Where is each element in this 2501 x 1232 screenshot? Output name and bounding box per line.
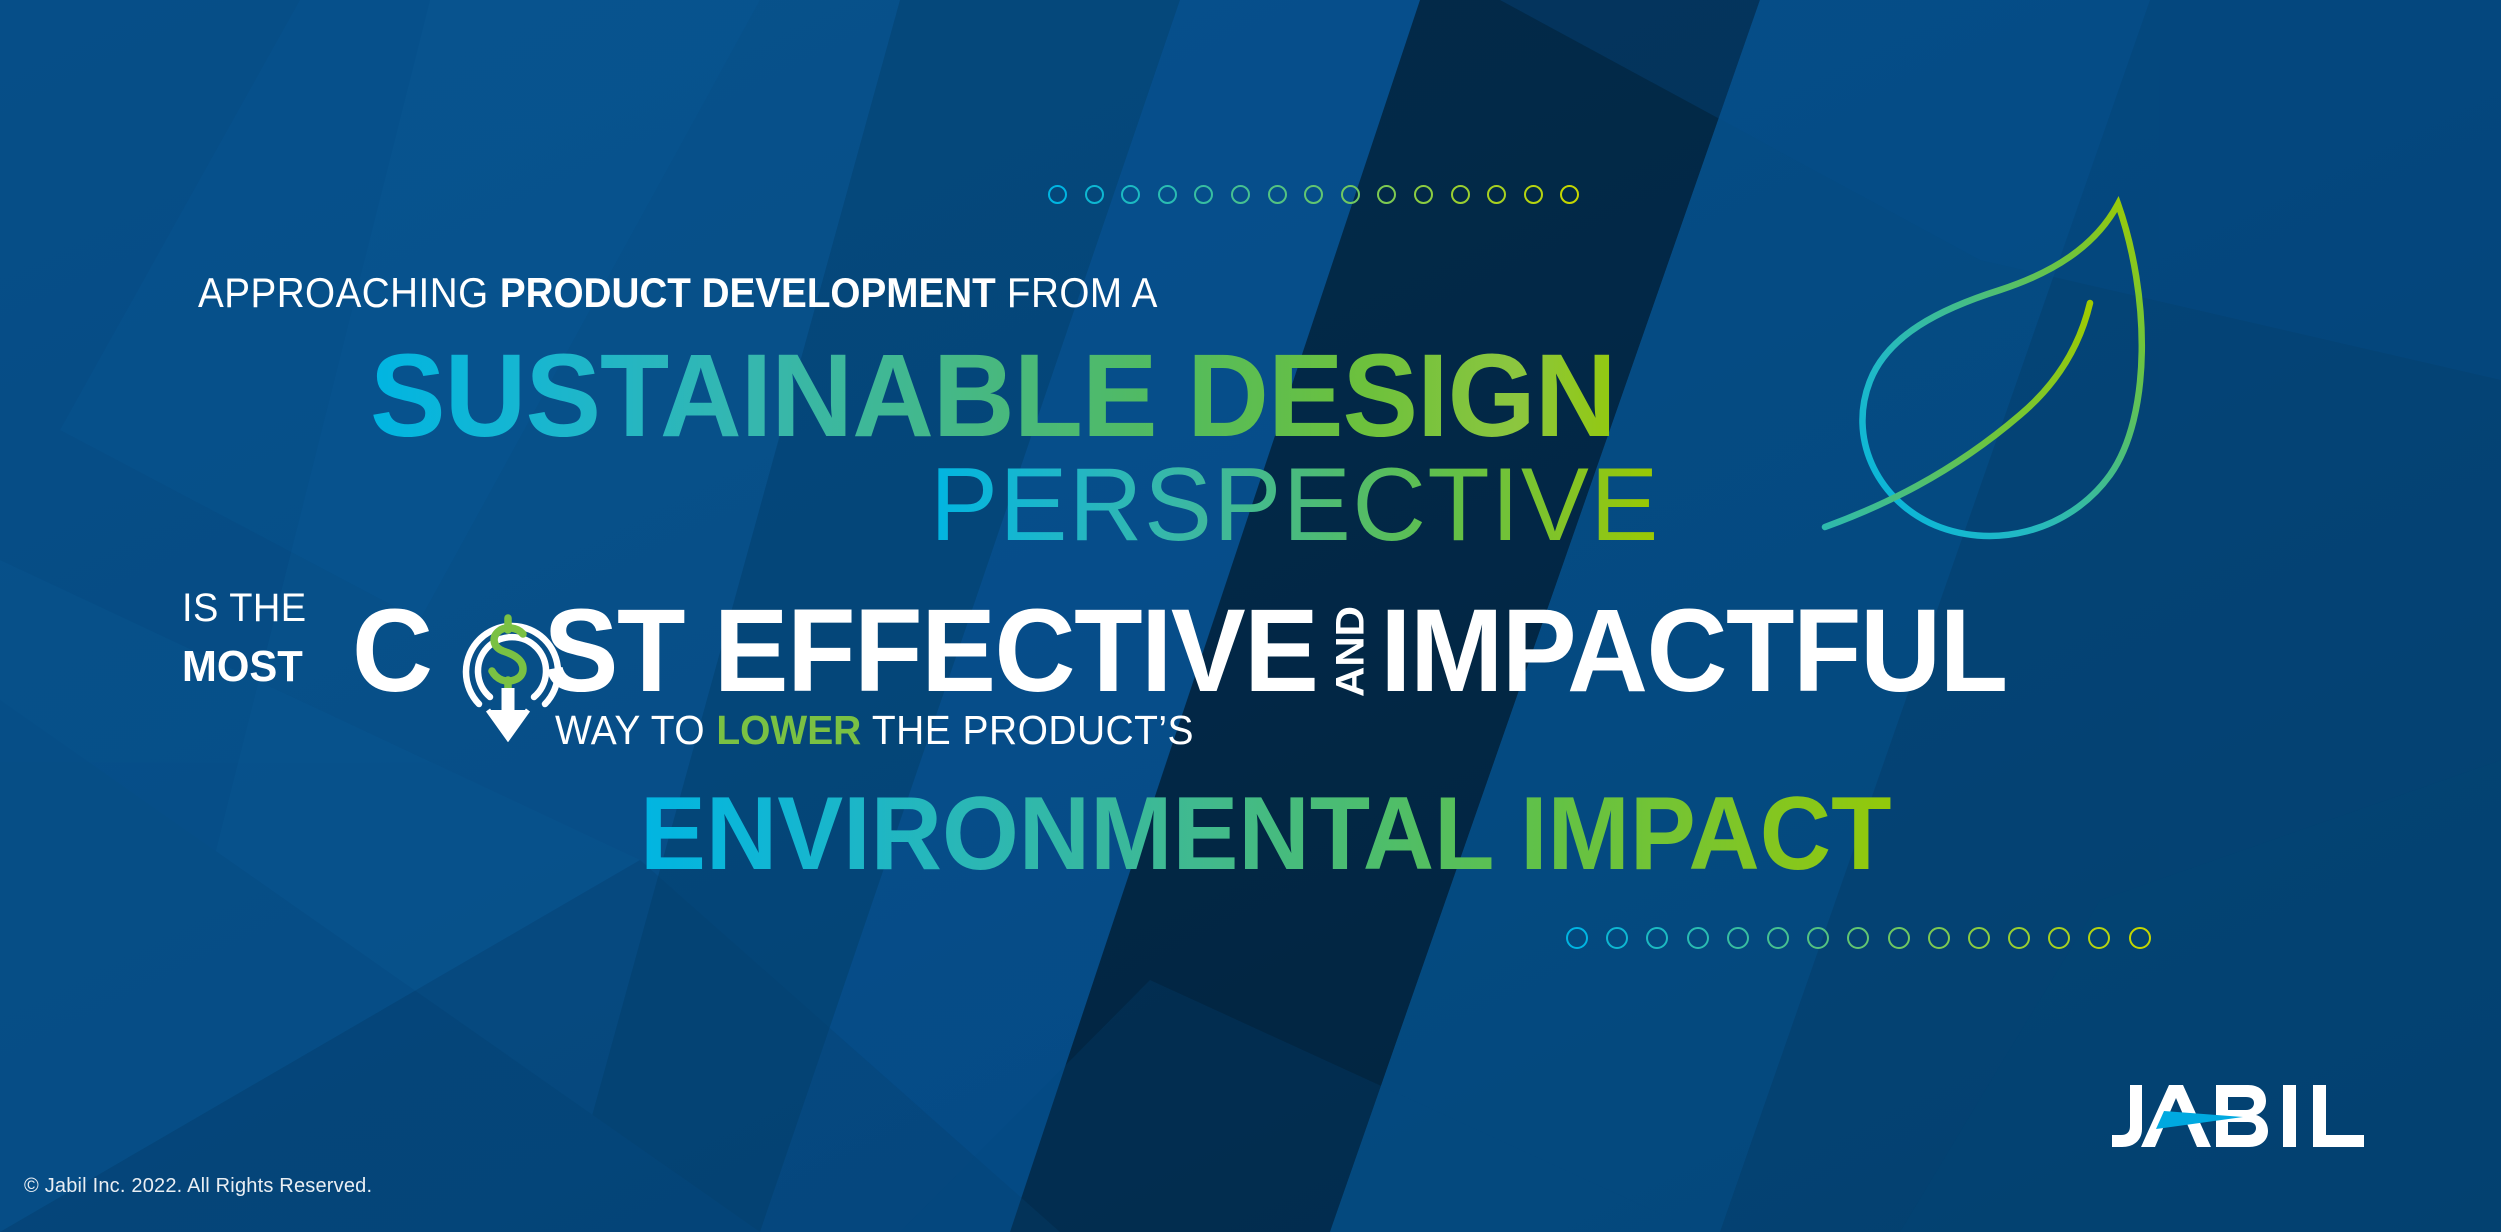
decorative-dot xyxy=(1687,927,1709,949)
decorative-dot xyxy=(1928,927,1950,949)
decorative-dot-row-bottom xyxy=(1566,927,2151,949)
way-post-text: THE PRODUCT’S xyxy=(861,707,1194,753)
decorative-dot xyxy=(2048,927,2070,949)
headline-sustainable-design: SUSTAINABLE DESIGN xyxy=(370,337,1616,455)
decorative-dot xyxy=(1767,927,1789,949)
decorative-dot xyxy=(2129,927,2151,949)
decorative-dot xyxy=(1847,927,1869,949)
conjunction-and-rotated: AND xyxy=(1331,600,1371,704)
kicker-most: MOST xyxy=(182,645,307,689)
jabil-logo xyxy=(2112,1085,2402,1147)
decorative-dot xyxy=(1646,927,1668,949)
eyebrow-emphasis-text: PRODUCT DEVELOPMENT xyxy=(500,269,996,316)
decorative-dot xyxy=(1968,927,1990,949)
cost-prefix-letter: C xyxy=(352,592,432,710)
way-pre-text: WAY TO xyxy=(555,707,716,753)
kicker-is-the-most: IS THE MOST xyxy=(182,588,313,689)
decorative-dot xyxy=(2008,927,2030,949)
poster-canvas: APPROACHING PRODUCT DEVELOPMENT FROM A S… xyxy=(0,0,2501,1232)
copyright-text: © Jabil Inc. 2022. All Rights Reserved. xyxy=(24,1175,372,1198)
headline-cost-effective-impactful: C ST EFFECTIVE AND IMPACTFUL xyxy=(352,592,2007,710)
decorative-dot xyxy=(2088,927,2110,949)
way-emphasis-lower: LOWER xyxy=(716,707,861,753)
decorative-dot xyxy=(1807,927,1829,949)
decorative-dot xyxy=(1606,927,1628,949)
headline-copy-block: APPROACHING PRODUCT DEVELOPMENT FROM A S… xyxy=(0,0,2501,1232)
kicker-is-the: IS THE xyxy=(182,588,307,628)
headline-environmental-impact: ENVIRONMENTAL IMPACT xyxy=(640,782,1891,886)
decorative-dot xyxy=(1888,927,1910,949)
impactful-text: IMPACTFUL xyxy=(1380,592,2006,710)
eyebrow-pre-text: APPROACHING xyxy=(198,269,500,316)
cost-suffix-text: ST EFFECTIVE xyxy=(544,592,1318,710)
eyebrow-post-text: FROM A xyxy=(996,269,1158,316)
decorative-dot xyxy=(1566,927,1588,949)
way-to-lower-line: WAY TO LOWER THE PRODUCT’S xyxy=(555,710,1194,751)
headline-perspective: PERSPECTIVE xyxy=(930,453,1660,557)
eyebrow-line: APPROACHING PRODUCT DEVELOPMENT FROM A xyxy=(198,272,1158,314)
decorative-dot xyxy=(1727,927,1749,949)
